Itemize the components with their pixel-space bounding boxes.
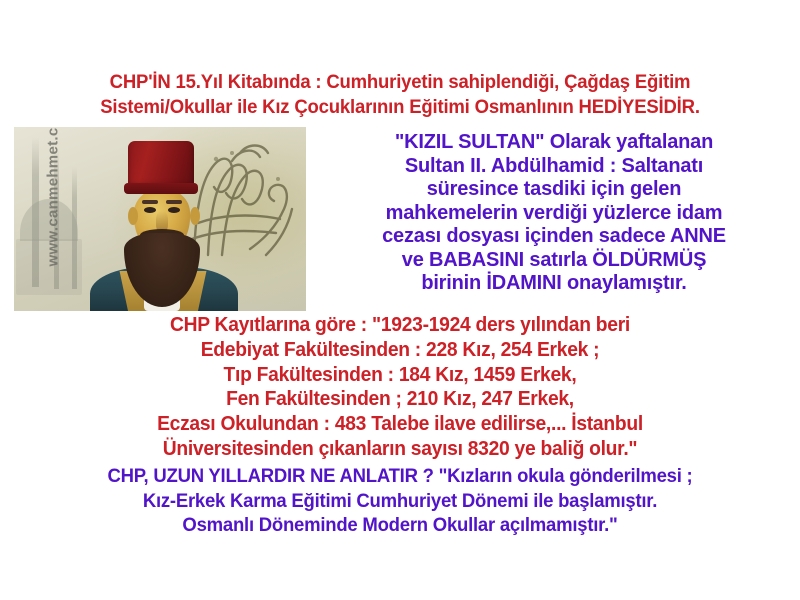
stats-line-4: Fen Fakültesinden ; 210 Kız, 247 Erkek, [24,387,776,412]
header-line-2: Sistemi/Okullar ile Kız Çocuklarının Eği… [20,95,780,120]
sultan-line-3: süresince tasdiki için gelen [308,178,800,202]
sultan-portrait-image: www.canmehmet.com [14,127,306,311]
header-line-1: CHP'İN 15.Yıl Kitabında : Cumhuriyetin s… [20,70,780,95]
sultan-line-2: Sultan II. Abdülhamid : Saltanatı [308,155,800,179]
header-text-block: CHP'İN 15.Yıl Kitabında : Cumhuriyetin s… [20,70,780,120]
watermark-text: www.canmehmet.com [45,127,62,267]
fez-brim-shape [124,183,198,194]
stats-line-3: Tıp Fakültesinden : 184 Kız, 1459 Erkek, [24,363,776,388]
sultan-line-1: "KIZIL SULTAN" Olarak yaftalanan [308,131,800,155]
stats-line-5: Eczası Okulundan : 483 Talebe ilave edil… [24,412,776,437]
sultan-figure [84,141,244,311]
sultan-line-4: mahkemelerin verdiği yüzlerce idam [308,202,800,226]
sultan-line-5: cezası dosyası içinden sadece ANNE [308,225,800,249]
eye-left-shape [144,207,156,213]
sultan-line-6: ve BABASINI satırla ÖLDÜRMÜŞ [308,249,800,273]
eye-right-shape [168,207,180,213]
eyebrow-left-shape [142,200,158,204]
footer-line-2: Kız-Erkek Karma Eğitimi Cumhuriyet Dönem… [20,489,780,514]
stats-line-6: Üniversitesinden çıkanların sayısı 8320 … [24,437,776,462]
eyebrow-right-shape [166,200,182,204]
stats-line-2: Edebiyat Fakültesinden : 228 Kız, 254 Er… [24,338,776,363]
ear-left-shape [128,207,138,225]
statistics-text-block: CHP Kayıtlarına göre : "1923-1924 ders y… [24,313,776,462]
sultan-text-block: "KIZIL SULTAN" Olarak yaftalanan Sultan … [308,131,800,296]
ear-right-shape [190,207,200,225]
footer-line-1: CHP, UZUN YILLARDIR NE ANLATIR ? "Kızlar… [20,464,780,489]
sultan-line-7: birinin İDAMINI onaylamıştır. [308,272,800,296]
fez-hat-shape [128,141,194,189]
footer-line-3: Osmanlı Döneminde Modern Okullar açılmam… [20,513,780,538]
stats-line-1: CHP Kayıtlarına göre : "1923-1924 ders y… [24,313,776,338]
poster-canvas: CHP'İN 15.Yıl Kitabında : Cumhuriyetin s… [0,0,800,600]
footer-text-block: CHP, UZUN YILLARDIR NE ANLATIR ? "Kızlar… [20,464,780,538]
